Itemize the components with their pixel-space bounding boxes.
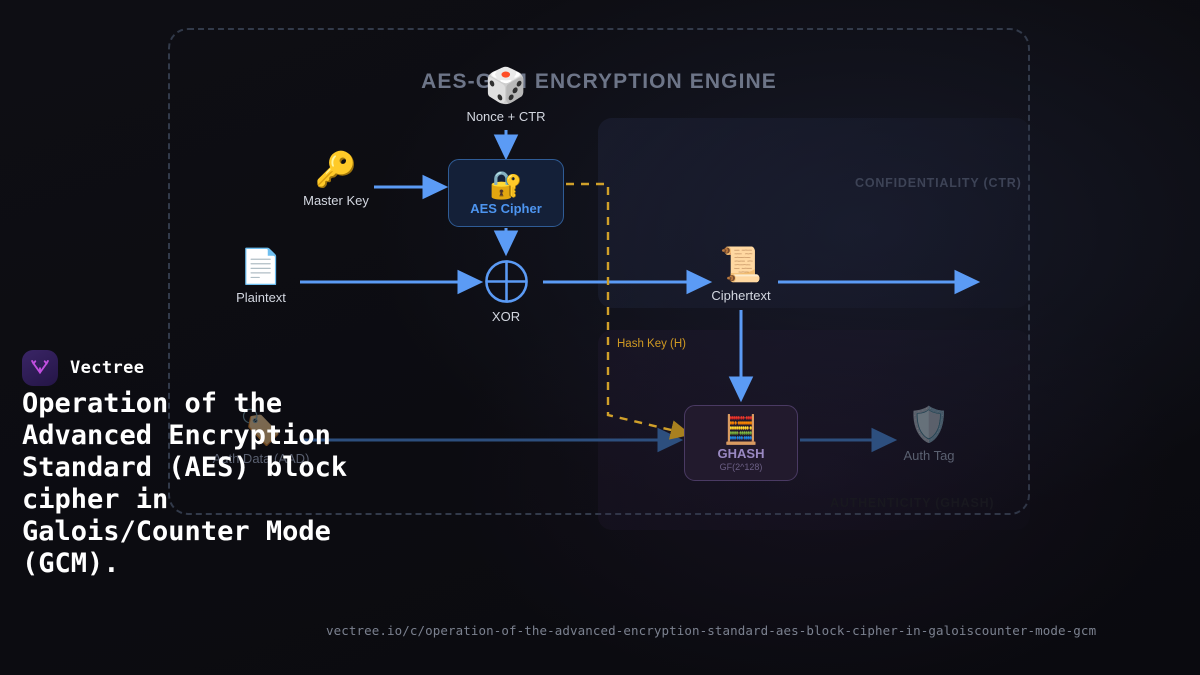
node-label-master-key: Master Key: [303, 193, 369, 208]
block-label-ghash: GHASH: [718, 446, 765, 461]
node-label-plaintext: Plaintext: [236, 290, 286, 305]
block-sublabel-ghash-field: GF(2^128): [720, 462, 763, 472]
block-ghash: 🧮 GHASH GF(2^128): [684, 405, 798, 481]
locked-with-key-icon: 🔐: [489, 171, 523, 200]
overlay-headline: Operation of the Advanced Encryption Sta…: [22, 388, 362, 580]
block-aes-cipher: 🔐 AES Cipher: [448, 159, 564, 227]
node-label-auth-tag: Auth Tag: [903, 448, 954, 463]
document-icon: 📄: [240, 247, 282, 287]
node-label-ciphertext: Ciphertext: [711, 288, 770, 303]
node-auth-tag: 🛡️ Auth Tag: [854, 405, 1004, 463]
node-plaintext: 📄 Plaintext: [186, 247, 336, 305]
node-nonce-ctr: 🎲 Nonce + CTR: [431, 66, 581, 124]
block-label-aes-cipher: AES Cipher: [470, 201, 542, 216]
key-icon: 🔑: [315, 150, 357, 190]
node-ciphertext: 📜 Ciphertext: [666, 245, 816, 303]
xor-circle-icon: [483, 258, 530, 305]
brand-name: Vectree: [70, 358, 144, 378]
scroll-icon: 📜: [720, 245, 762, 285]
node-label-xor: XOR: [492, 309, 520, 324]
vectree-tree-logo-icon: [29, 357, 51, 379]
node-master-key: 🔑 Master Key: [261, 150, 411, 208]
shield-icon: 🛡️: [908, 405, 950, 445]
wire-label-hash-key: Hash Key (H): [617, 338, 686, 350]
abacus-icon: 🧮: [724, 415, 759, 445]
brand-block: Vectree: [22, 350, 144, 386]
vectree-logo-mark: [22, 350, 58, 386]
page-url: vectree.io/c/operation-of-the-advanced-e…: [326, 623, 1096, 638]
dice-icon: 🎲: [485, 66, 527, 106]
node-label-nonce: Nonce + CTR: [466, 109, 545, 124]
node-xor: XOR: [466, 258, 546, 324]
